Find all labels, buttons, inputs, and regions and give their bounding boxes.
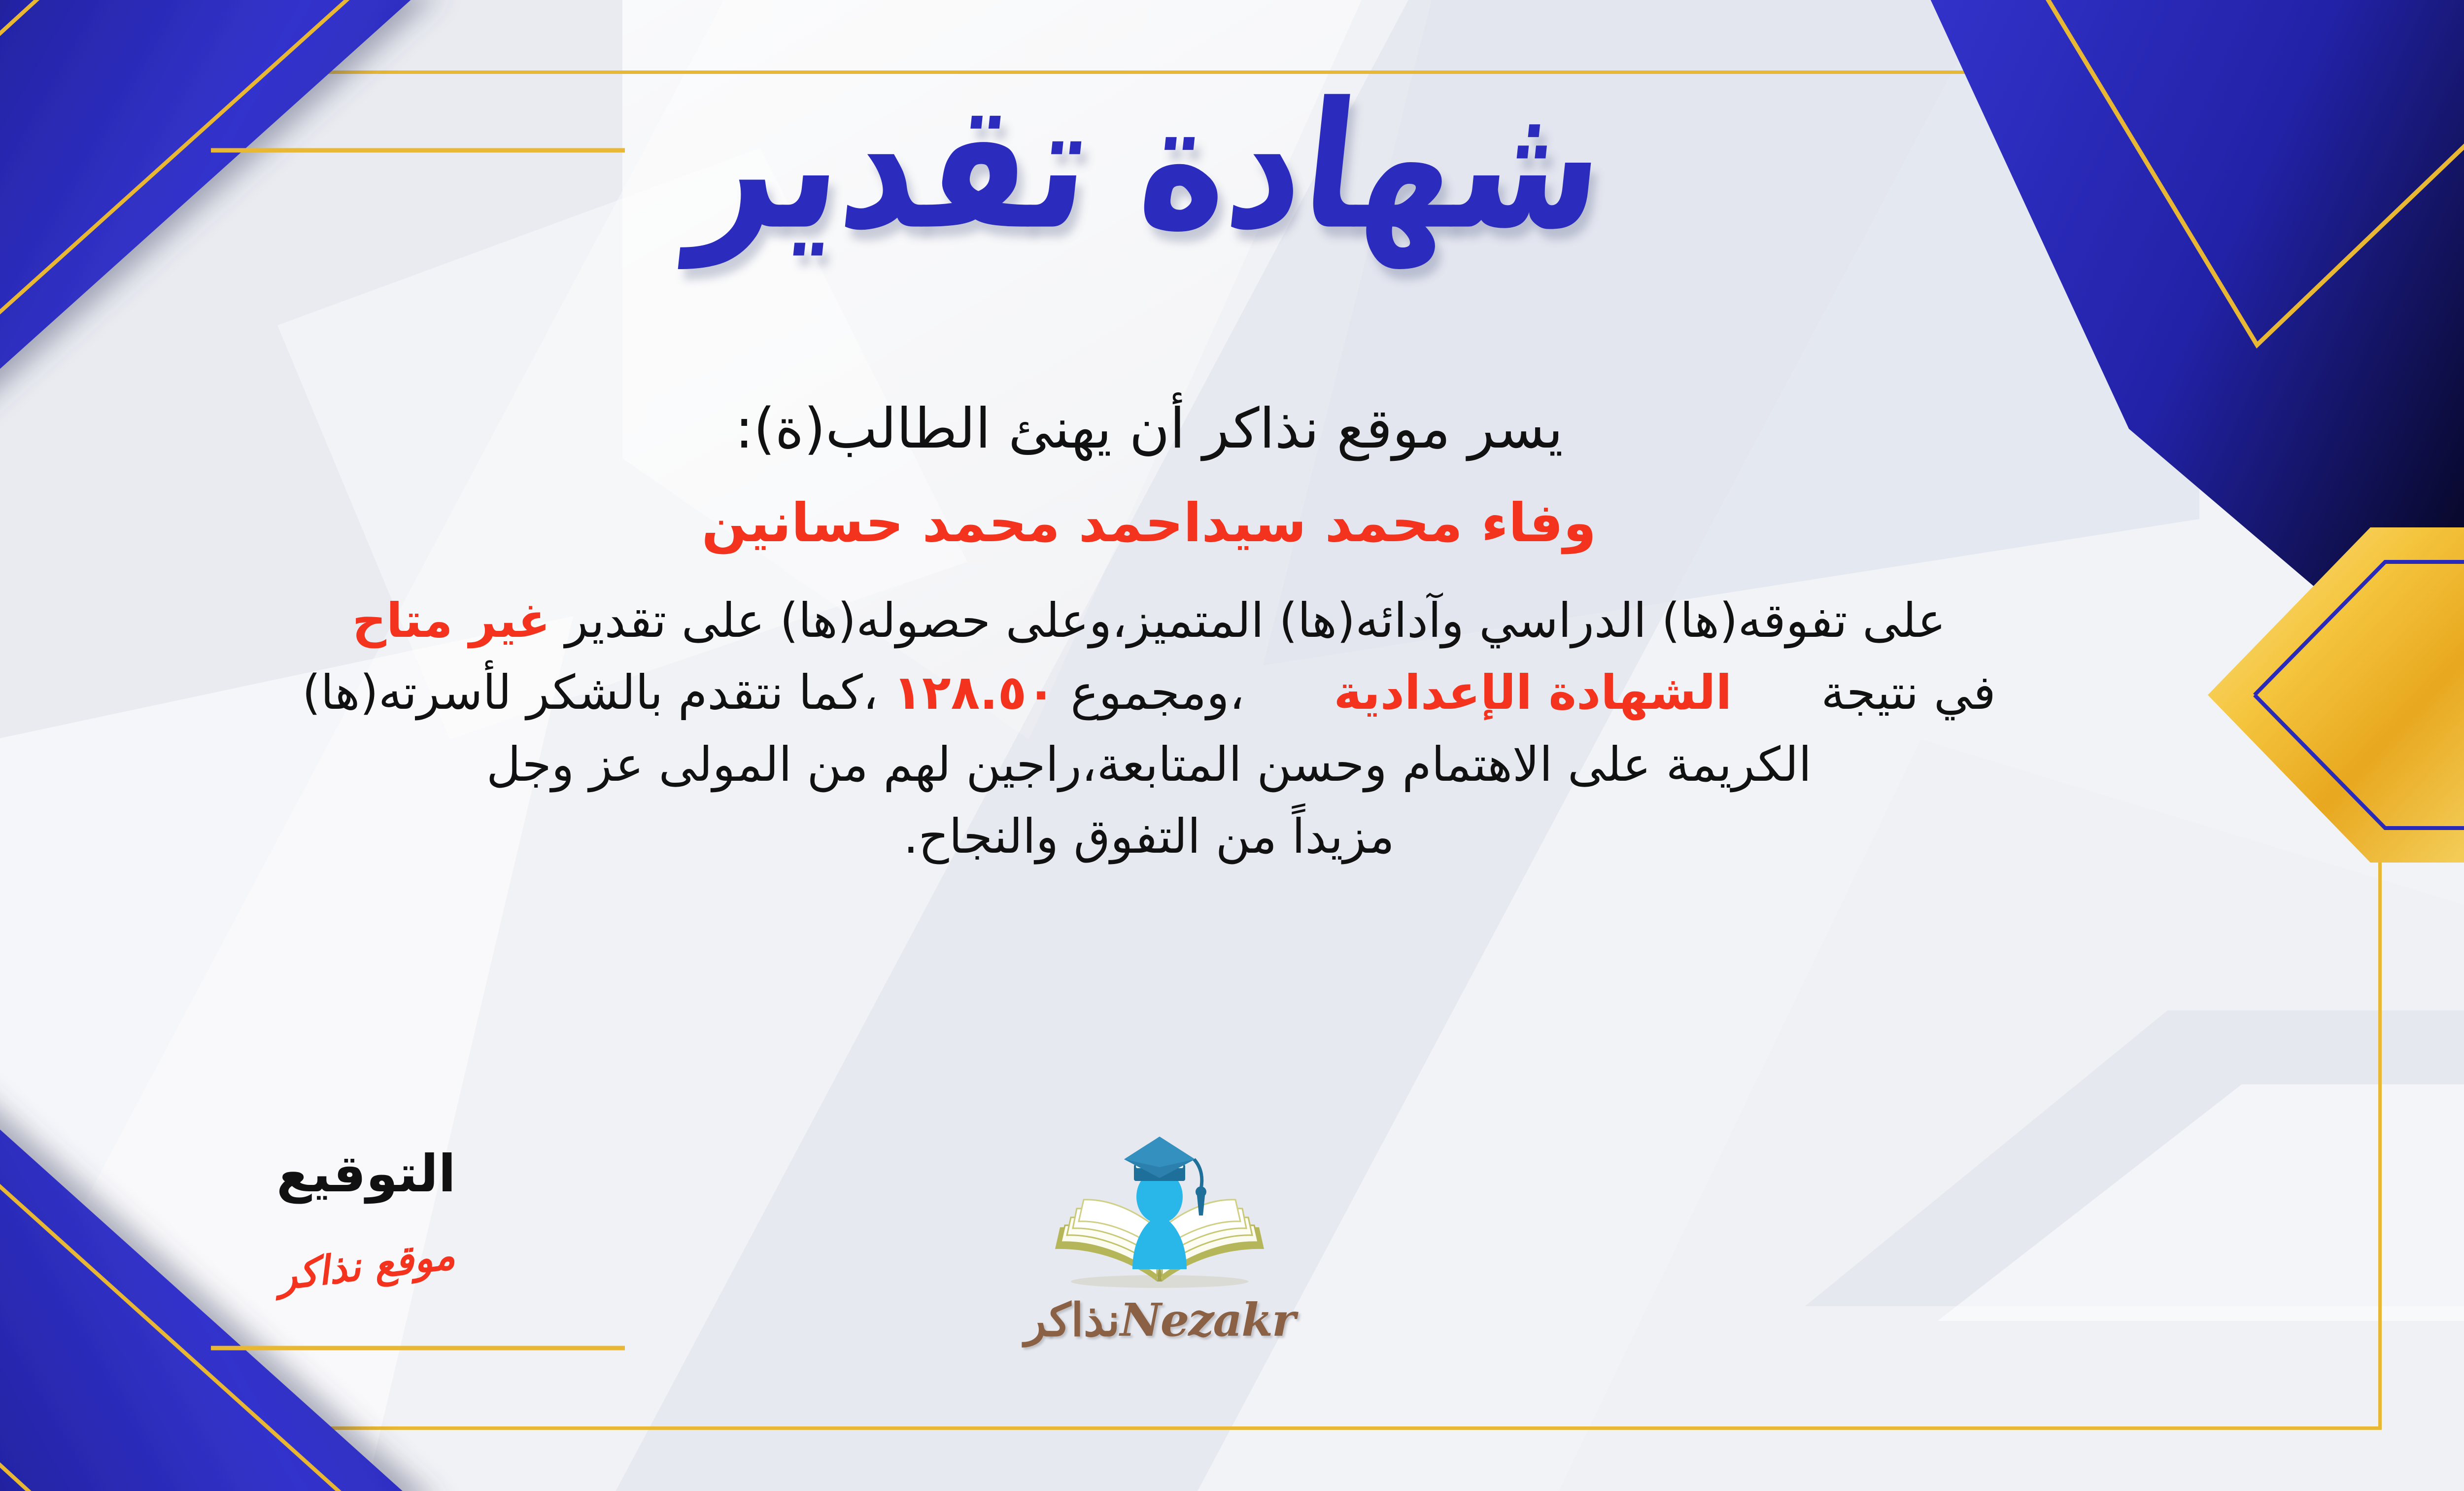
- signature-area: التوقيع موقع نذاكر: [179, 1144, 553, 1288]
- total-label: ،ومجموع: [1070, 665, 1244, 720]
- logo-arabic: نذاكر: [1025, 1293, 1120, 1347]
- body-line3: الكريمة على الاهتمام وحسن المتابعة،راجين…: [486, 737, 1812, 792]
- grade-value: غير متاح: [352, 593, 550, 648]
- logo-latin: Nezakr: [1120, 1293, 1295, 1347]
- intro-line: يسر موقع نذاكر أن يهنئ الطالب(ة):: [0, 394, 2336, 463]
- signature-label: التوقيع: [179, 1144, 553, 1204]
- certificate-body: يسر موقع نذاكر أن يهنئ الطالب(ة): وفاء م…: [0, 394, 2336, 873]
- total-score: ١٢٨.٥٠: [893, 665, 1055, 720]
- student-name: وفاء محمد سيداحمد محمد حسانين: [0, 490, 2336, 556]
- body-line2-in-result: في نتيجة: [1821, 665, 1996, 720]
- graduate-book-icon: [1022, 1134, 1298, 1296]
- body-paragraph: على تفوقه(ها) الدراسي وآدائه(ها) المتميز…: [0, 585, 2336, 873]
- exam-name: الشهادة الإعدادية: [1334, 665, 1732, 720]
- body-line4: مزيداً من التفوق والنجاح.: [903, 809, 1395, 864]
- site-logo: Nezakrنذاكر: [938, 1134, 1381, 1347]
- logo-wordmark: Nezakrنذاكر: [938, 1293, 1381, 1347]
- certificate-canvas: شهادة تقدير يسر موقع نذاكر أن يهنئ الطال…: [0, 0, 2464, 1491]
- body-line1-text: على تفوقه(ها) الدراسي وآدائه(ها) المتميز…: [565, 593, 1946, 648]
- body-line2-after-total: ،كما نتقدم بالشكر لأسرته(ها): [302, 665, 878, 720]
